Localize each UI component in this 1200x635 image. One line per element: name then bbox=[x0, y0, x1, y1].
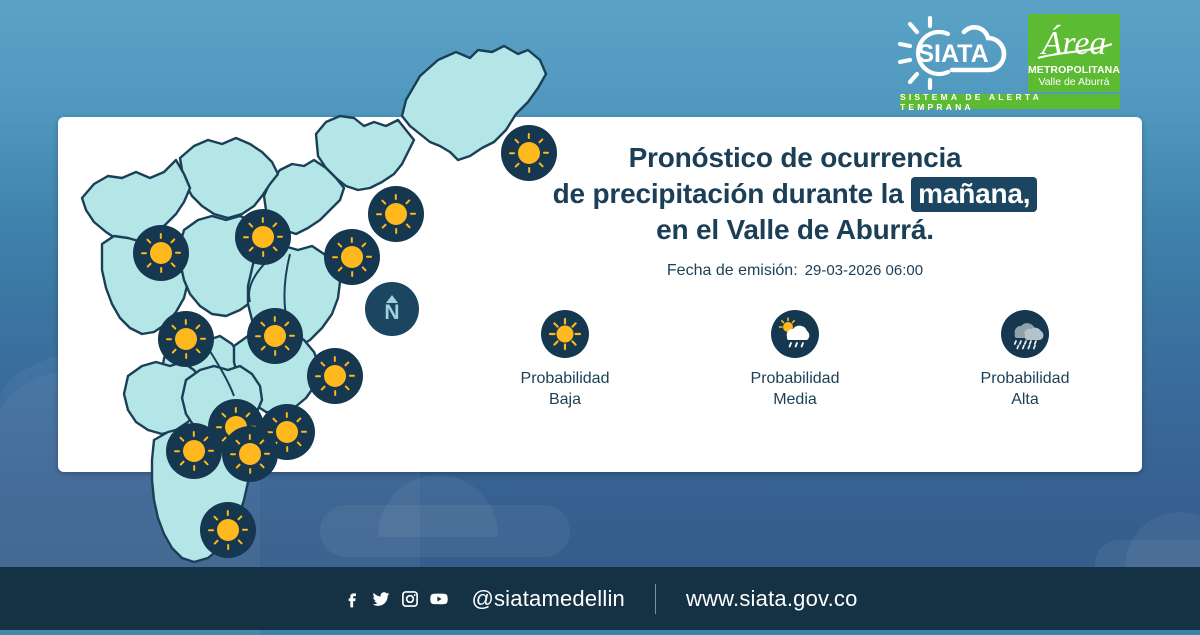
footer-divider bbox=[655, 584, 656, 614]
title-line-3: en el Valle de Aburrá. bbox=[455, 212, 1135, 248]
area-script-icon: Área bbox=[1028, 18, 1120, 66]
legend-item-baja: Probabilidad Baja bbox=[495, 310, 635, 410]
legend-label-baja: Probabilidad Baja bbox=[521, 368, 610, 410]
area-metropolitana-logo: Área METROPOLITANA Valle de Aburrá bbox=[1028, 14, 1120, 92]
legend-label-line1: Probabilidad bbox=[751, 368, 840, 389]
social-links bbox=[342, 589, 449, 609]
sun-icon bbox=[541, 310, 589, 358]
facebook-icon[interactable] bbox=[342, 589, 362, 609]
social-handle[interactable]: @siatamedellin bbox=[471, 586, 625, 612]
sun-cloud-rain-icon-svg bbox=[771, 310, 819, 358]
siata-logo-icon: SIATA bbox=[890, 14, 1018, 92]
probability-legend: Probabilidad Baja bbox=[455, 310, 1135, 410]
legend-label-line1: Probabilidad bbox=[521, 368, 610, 389]
sun-cloud-rain-icon bbox=[771, 310, 819, 358]
background-cloud-icon bbox=[320, 505, 570, 557]
legend-item-alta: Probabilidad Alta bbox=[955, 310, 1095, 410]
title-highlight-periodo: mañana, bbox=[911, 177, 1037, 212]
page-title: Pronóstico de ocurrencia de precipitació… bbox=[455, 140, 1135, 248]
title-line-2: de precipitación durante la mañana, bbox=[455, 176, 1135, 212]
title-line-2-text: de precipitación durante la bbox=[553, 178, 904, 209]
legend-label-media: Probabilidad Media bbox=[751, 368, 840, 410]
legend-label-alta: Probabilidad Alta bbox=[981, 368, 1070, 410]
legend-label-line2: Alta bbox=[981, 389, 1070, 410]
legend-label-line1: Probabilidad bbox=[981, 368, 1070, 389]
area-script-text: Área bbox=[1040, 25, 1107, 62]
siata-wordmark: SIATA bbox=[917, 40, 988, 68]
legend-label-line2: Media bbox=[751, 389, 840, 410]
tagline-banner: SISTEMA DE ALERTA TEMPRANA bbox=[900, 94, 1120, 109]
area-valle-label: Valle de Aburrá bbox=[1038, 76, 1109, 88]
instagram-icon[interactable] bbox=[400, 589, 420, 609]
sun-icon-svg bbox=[541, 310, 589, 358]
legend-item-media: Probabilidad Media bbox=[725, 310, 865, 410]
twitter-icon[interactable] bbox=[371, 589, 391, 609]
emission-date-value: 29-03-2026 06:00 bbox=[805, 262, 923, 279]
cloud-heavy-rain-icon bbox=[1001, 310, 1049, 358]
legend-label-line2: Baja bbox=[521, 389, 610, 410]
youtube-icon[interactable] bbox=[429, 589, 449, 609]
emission-date-label: Fecha de emisión: bbox=[667, 262, 798, 280]
emission-date-row: Fecha de emisión: 29-03-2026 06:00 bbox=[455, 262, 1135, 280]
website-url[interactable]: www.siata.gov.co bbox=[686, 586, 858, 612]
logo-group: SIATA Área METROPOLITANA Valle de Aburrá bbox=[890, 14, 1120, 92]
forecast-content: Pronóstico de ocurrencia de precipitació… bbox=[455, 140, 1135, 410]
footer-bar: @siatamedellin www.siata.gov.co bbox=[0, 567, 1200, 630]
title-line-1: Pronóstico de ocurrencia bbox=[455, 140, 1135, 176]
cloud-heavy-rain-icon-svg bbox=[1001, 310, 1049, 358]
